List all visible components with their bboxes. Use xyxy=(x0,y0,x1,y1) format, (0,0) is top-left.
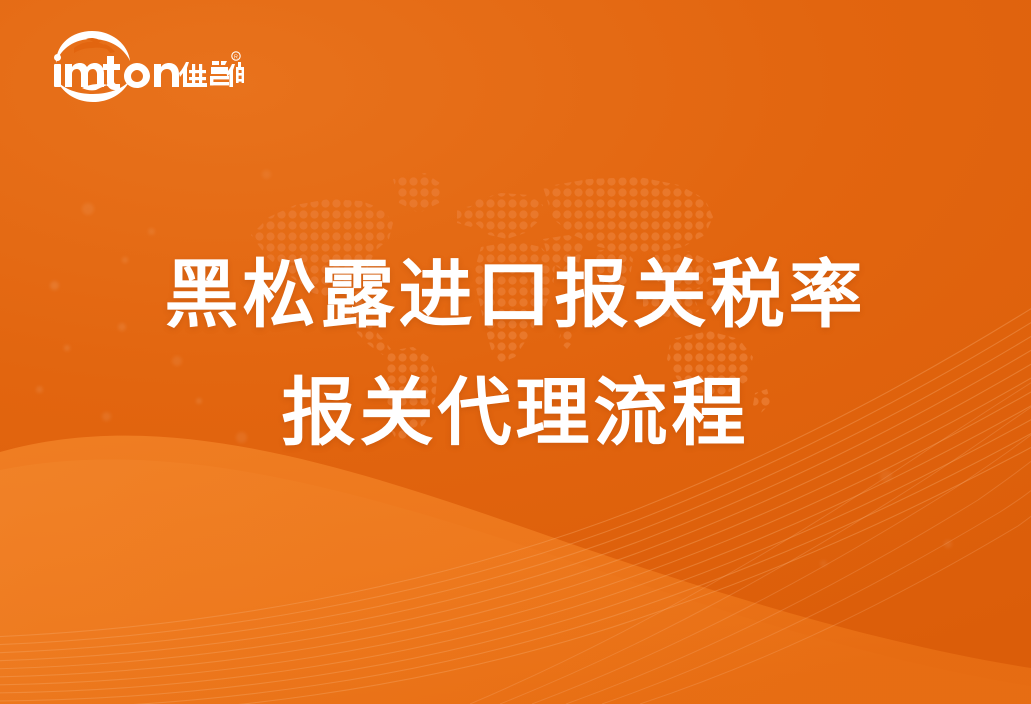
bokeh-circle xyxy=(148,228,155,235)
bokeh-circle xyxy=(262,170,271,179)
svg-text:R: R xyxy=(234,55,238,61)
registered-trademark-icon: R xyxy=(232,52,240,61)
promo-banner: R 黑松露进口报关税率 报关代理流程 xyxy=(0,0,1031,704)
bokeh-circle xyxy=(82,203,94,215)
page-title: 黑松露进口报关税率 报关代理流程 xyxy=(0,258,1031,450)
brand-logo[interactable]: R xyxy=(44,26,244,104)
title-line-1: 黑松露进口报关税率 xyxy=(0,258,1031,332)
bokeh-circle xyxy=(944,540,952,548)
bokeh-circle xyxy=(820,560,827,567)
bokeh-circle xyxy=(880,470,892,482)
title-line-2: 报关代理流程 xyxy=(0,376,1031,450)
